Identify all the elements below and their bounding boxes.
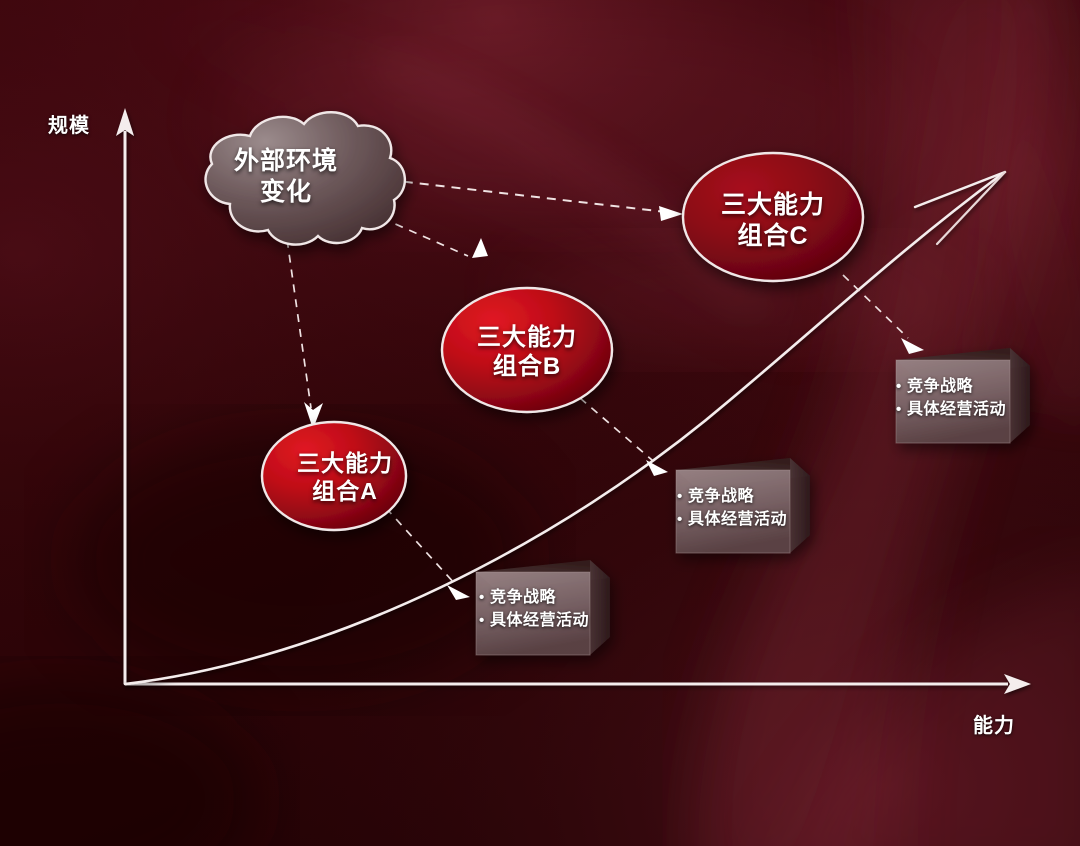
ellipse-node-b[interactable] <box>442 288 612 412</box>
connector-cloud-to-a <box>285 225 323 429</box>
connector-b-to-callout-2 <box>580 398 668 476</box>
callout-box-3[interactable] <box>896 348 1030 443</box>
ellipse-node-c[interactable] <box>683 153 863 281</box>
connector-cloud-to-c <box>372 178 683 221</box>
axis-x <box>125 674 1031 694</box>
axis-y <box>116 108 134 684</box>
ellipse-node-a[interactable] <box>262 422 406 530</box>
callout-box-2[interactable] <box>676 458 810 553</box>
cloud-node[interactable] <box>206 112 405 244</box>
callout-box-1[interactable] <box>476 560 610 655</box>
axis-y-label: 规模 <box>48 109 90 138</box>
connector-a-to-callout-1 <box>386 508 470 600</box>
axis-x-label: 能力 <box>973 709 1015 738</box>
diagram-canvas: 规模 能力 外部环境 变化 三大能力 组合C 三大能力 组合B 三大能力 组合A… <box>0 0 1080 846</box>
connector-c-to-callout-3 <box>843 275 924 354</box>
diagram-vectors <box>0 0 1080 846</box>
